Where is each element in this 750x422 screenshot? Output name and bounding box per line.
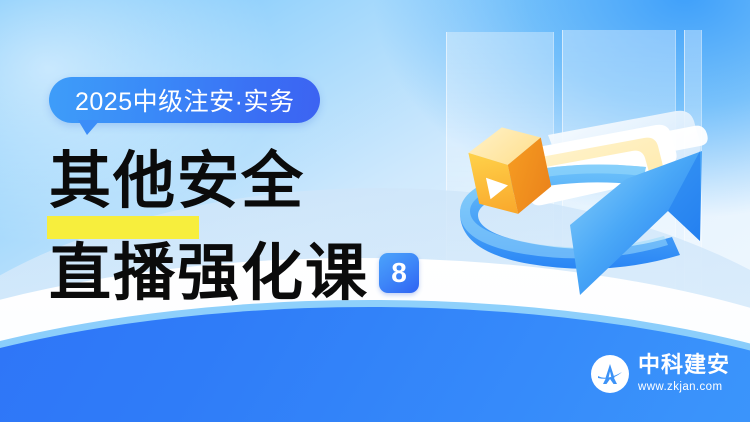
brand-url: www.zkjan.com xyxy=(638,380,730,394)
zkjan-circle-logo-icon xyxy=(591,355,629,393)
title-line-2: 直播强化课 8 xyxy=(49,240,419,306)
course-category-badge-label: 2025中级注安·实务 xyxy=(75,82,294,118)
course-category-badge[interactable]: 2025中级注安·实务 xyxy=(49,77,320,123)
brand-logo[interactable]: 中科建安 www.zkjan.com xyxy=(591,354,730,394)
session-number-badge: 8 xyxy=(379,253,419,293)
title-line-2-text: 直播强化课 xyxy=(49,240,369,306)
session-number-text: 8 xyxy=(391,259,407,287)
illustration-svg xyxy=(430,85,720,335)
badge-tail-icon xyxy=(78,120,100,135)
page-title: 其他安全 直播强化课 8 xyxy=(49,148,419,306)
brand-name: 中科建安 xyxy=(638,354,730,378)
title-line-1: 其他安全 xyxy=(49,148,419,214)
title-line-1-text: 其他安全 xyxy=(49,148,305,214)
course-illustration xyxy=(430,85,720,335)
brand-text: 中科建安 www.zkjan.com xyxy=(638,354,730,394)
course-promo-banner: 2025中级注安·实务 其他安全 直播强化课 8 中科建安 www.zkjan xyxy=(0,0,750,422)
